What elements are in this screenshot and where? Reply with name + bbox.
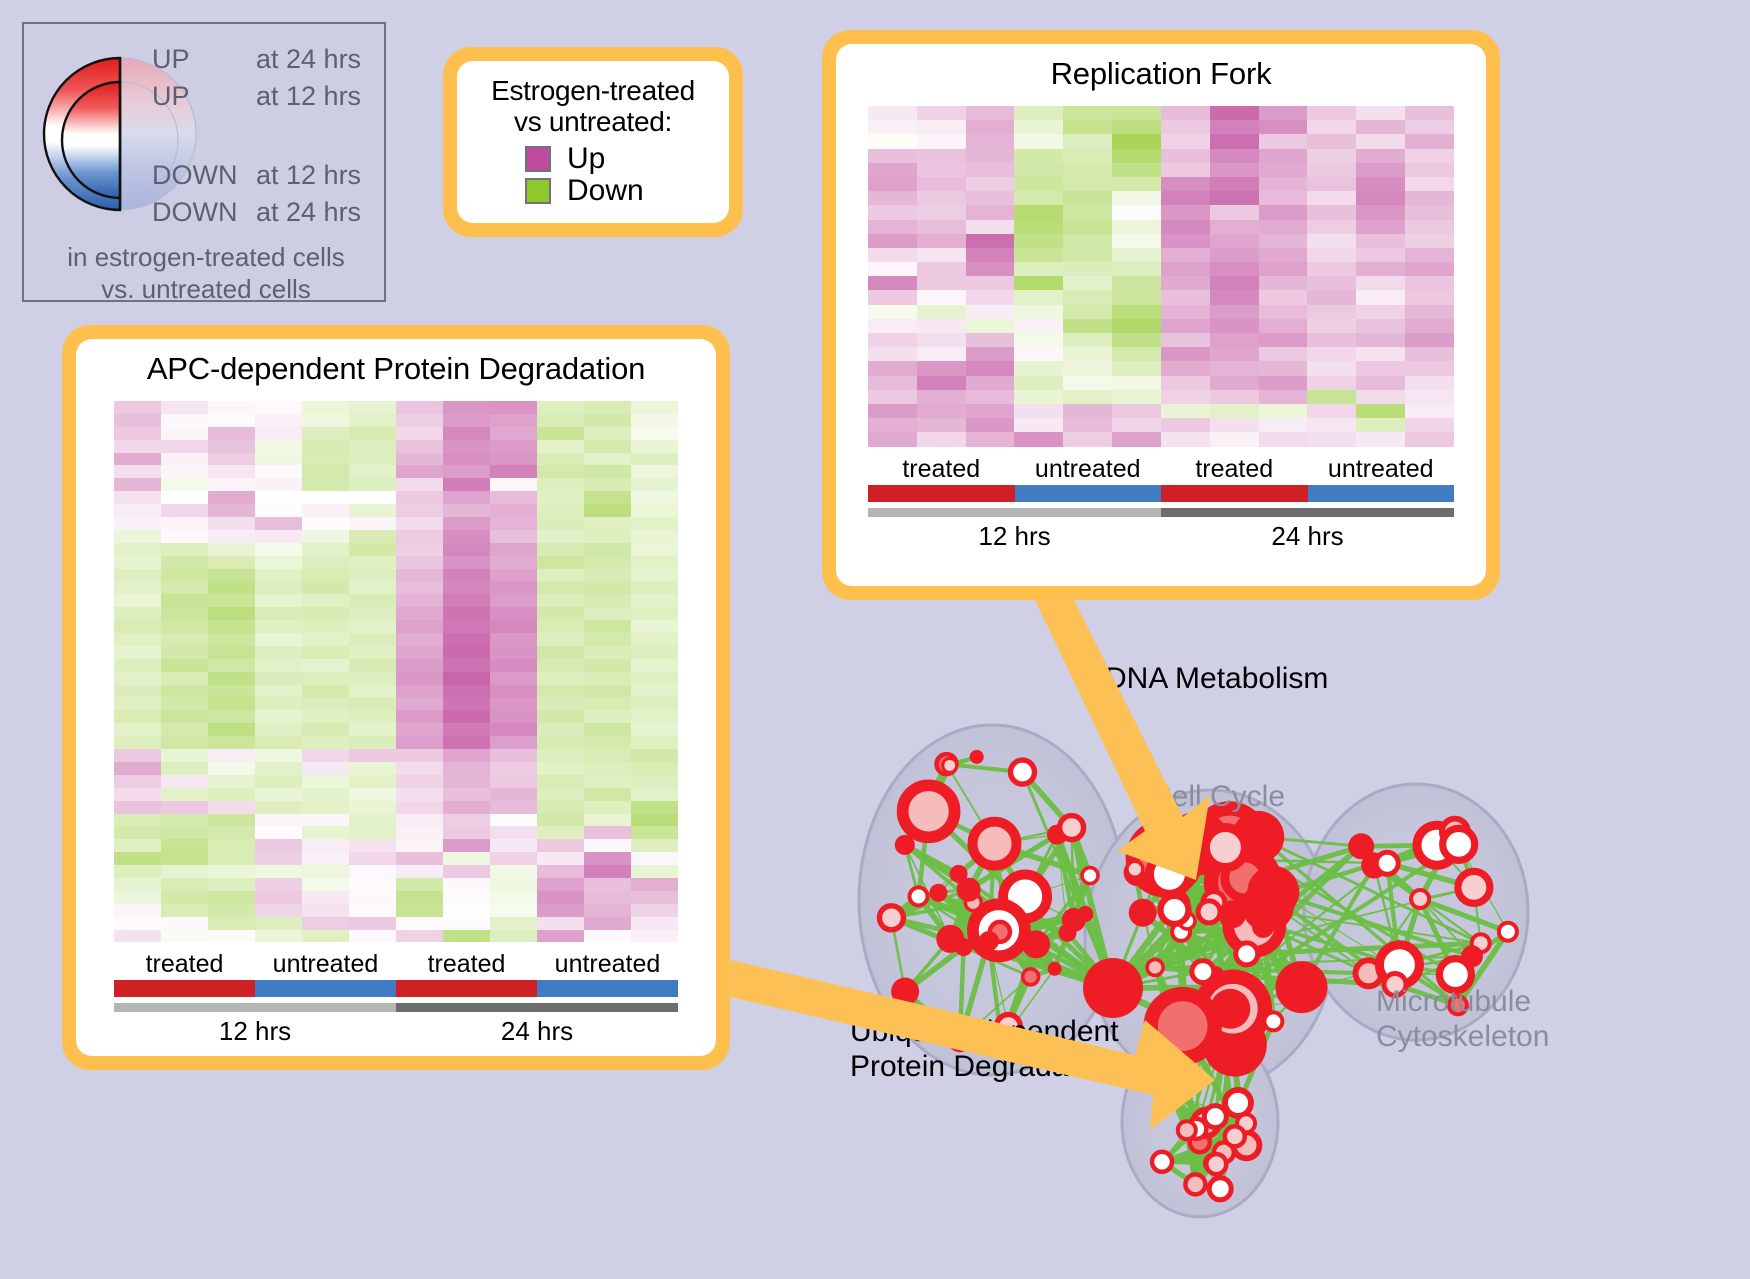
heatmap-cell — [631, 569, 678, 582]
network-node[interactable] — [1225, 1126, 1245, 1146]
heatmap-cell — [302, 581, 349, 594]
network-node[interactable] — [1127, 861, 1143, 877]
heatmap-cell — [490, 814, 537, 827]
heatmap-cell — [537, 491, 584, 504]
heatmap-cell — [631, 762, 678, 775]
network-node[interactable] — [1205, 828, 1245, 868]
heatmap-cell — [114, 878, 161, 891]
heatmap-cell — [584, 891, 631, 904]
heatmap-cell — [1405, 347, 1454, 361]
network-node[interactable] — [957, 878, 981, 902]
heatmap-cell — [208, 710, 255, 723]
heatmap-cell — [349, 930, 396, 943]
heatmap-cell — [1112, 432, 1161, 446]
heatmap-cell — [396, 865, 443, 878]
network-node[interactable] — [1048, 962, 1062, 976]
heatmap-cell — [631, 865, 678, 878]
heatmap-cell — [584, 453, 631, 466]
heatmap-cell — [208, 775, 255, 788]
heatmap-cell — [255, 414, 302, 427]
heatmap-cell — [443, 633, 490, 646]
heatmap-cell — [396, 401, 443, 414]
heatmap-cell — [349, 633, 396, 646]
heatmap-cell — [161, 891, 208, 904]
heatmap-cell — [966, 234, 1015, 248]
heatmap-cell — [255, 556, 302, 569]
legend-title-line2: vs untreated: — [457, 106, 729, 137]
heatmap-cell — [349, 736, 396, 749]
heatmap-cell — [396, 659, 443, 672]
heatmap-cell — [255, 478, 302, 491]
heatmap-cell — [161, 491, 208, 504]
heatmap-cell — [443, 814, 490, 827]
heatmap-cell — [1161, 205, 1210, 219]
heatmap-cell — [161, 478, 208, 491]
heatmap-cell — [302, 517, 349, 530]
heatmap-cell — [114, 710, 161, 723]
heatmap-cell — [1063, 149, 1112, 163]
legend-title: Estrogen-treated vs untreated: — [457, 75, 729, 138]
heatmap-cell — [1259, 163, 1308, 177]
heatmap-cell — [1405, 177, 1454, 191]
network-node[interactable] — [1209, 1178, 1231, 1200]
axis-group-labels: treated untreated treated untreated — [868, 456, 1454, 483]
heatmap-cell — [1161, 376, 1210, 390]
heatmap-cell — [966, 248, 1015, 262]
heatmap-cell — [1014, 149, 1063, 163]
network-node[interactable] — [1198, 901, 1220, 923]
heatmap-cell — [443, 710, 490, 723]
network-node[interactable] — [1161, 896, 1189, 924]
heatmap-cell — [114, 762, 161, 775]
heatmap-cell — [1063, 432, 1112, 446]
heatmap-cell — [490, 465, 537, 478]
cluster-label-dna-metabolism: DNA Metabolism — [1105, 662, 1328, 697]
heatmap-cell — [208, 723, 255, 736]
heatmap-cell — [396, 620, 443, 633]
heatmap-cell — [537, 620, 584, 633]
heatmap-cell — [443, 414, 490, 427]
heatmap-cell — [1014, 319, 1063, 333]
heatmap-cell — [631, 620, 678, 633]
heatmap-cell — [114, 826, 161, 839]
network-node[interactable] — [973, 822, 1017, 866]
heatmap-cell — [161, 517, 208, 530]
heatmap-cell — [1405, 376, 1454, 390]
heatmap-cell — [868, 248, 917, 262]
heatmap-cell — [966, 191, 1015, 205]
heatmap-cell — [631, 839, 678, 852]
heatmap-cell — [1112, 333, 1161, 347]
heatmap-cell — [631, 646, 678, 659]
network-node[interactable] — [1443, 828, 1475, 860]
heatmap-cell — [584, 427, 631, 440]
heatmap-cell — [1356, 390, 1405, 404]
heatmap-cell — [396, 917, 443, 930]
heatmap-cell — [584, 710, 631, 723]
heatmap-cell — [396, 633, 443, 646]
heatmap-cell — [349, 465, 396, 478]
network-node[interactable] — [970, 750, 984, 764]
key-time: at 12 hrs — [256, 162, 361, 189]
heatmap-cell — [255, 801, 302, 814]
heatmap-cell — [208, 620, 255, 633]
heatmap-cell — [208, 672, 255, 685]
heatmap-cell — [631, 427, 678, 440]
heatmap-cell — [490, 723, 537, 736]
axis-group-labels: treated untreated treated untreated — [114, 951, 678, 978]
heatmap-cell — [114, 865, 161, 878]
heatmap-cell — [1112, 205, 1161, 219]
network-node[interactable] — [979, 931, 999, 951]
heatmap-cell — [208, 646, 255, 659]
heatmap-cell — [584, 543, 631, 556]
axis-time-label: 24 hrs — [1161, 521, 1454, 552]
heatmap-cell — [208, 569, 255, 582]
heatmap-cell — [966, 432, 1015, 446]
heatmap-cell — [443, 659, 490, 672]
heatmap-cell — [349, 414, 396, 427]
heatmap-cell — [302, 762, 349, 775]
key-row: DOWN at 24 hrs — [152, 199, 384, 226]
heatmap-cell — [631, 904, 678, 917]
heatmap-cell — [396, 826, 443, 839]
heatmap-cell — [396, 814, 443, 827]
heatmap-cell — [1405, 276, 1454, 290]
network-node[interactable] — [891, 978, 919, 1006]
heatmap-cell — [114, 788, 161, 801]
heatmap-cell — [1210, 290, 1259, 304]
network-node[interactable] — [1059, 924, 1077, 942]
heatmap-cell — [537, 517, 584, 530]
heatmap-cell — [1063, 404, 1112, 418]
heatmap-cell — [349, 543, 396, 556]
heatmap-cell — [255, 491, 302, 504]
heatmap-cell — [1063, 376, 1112, 390]
heatmap-cell — [917, 333, 966, 347]
heatmap-cell — [161, 427, 208, 440]
heatmap-cell — [1259, 106, 1308, 120]
heatmap-cell — [114, 414, 161, 427]
axis-group-label: treated — [114, 951, 255, 978]
network-node[interactable] — [879, 906, 903, 930]
heatmap-cell — [917, 163, 966, 177]
network-node[interactable] — [1082, 868, 1098, 884]
heatmap-cell — [966, 361, 1015, 375]
heatmap-cell — [114, 801, 161, 814]
heatmap-cell — [868, 163, 917, 177]
heatmap-cell — [1356, 220, 1405, 234]
legend-items: Up Down — [457, 144, 729, 206]
heatmap-cell — [631, 504, 678, 517]
network-node[interactable] — [1264, 1012, 1282, 1030]
heatmap-cell — [537, 801, 584, 814]
heatmap-cell — [537, 930, 584, 943]
heatmap-cell — [1161, 276, 1210, 290]
heatmap-cell — [1014, 248, 1063, 262]
heatmap-cell — [537, 543, 584, 556]
heatmap-cell — [537, 594, 584, 607]
heatmap-cell — [1112, 248, 1161, 262]
heatmap-cell — [1307, 205, 1356, 219]
axis-time-label: 12 hrs — [868, 521, 1161, 552]
heatmap-cell — [917, 262, 966, 276]
heatmap-cell — [631, 517, 678, 530]
heatmap-cell — [1259, 191, 1308, 205]
network-node[interactable] — [929, 884, 947, 902]
heatmap-cell — [584, 401, 631, 414]
network-node[interactable] — [1499, 923, 1517, 941]
heatmap-cell — [161, 930, 208, 943]
heatmap-cell — [966, 376, 1015, 390]
heatmap-cell — [490, 710, 537, 723]
network-node[interactable] — [1022, 930, 1050, 958]
replication-fork-axis: treated untreated treated untreated 12 h — [868, 456, 1454, 552]
heatmap-cell — [114, 517, 161, 530]
heatmap-cell — [1307, 163, 1356, 177]
heatmap-cell — [1356, 404, 1405, 418]
heatmap-cell — [208, 581, 255, 594]
heatmap-cell — [1405, 290, 1454, 304]
heatmap-cell — [396, 465, 443, 478]
heatmap-cell — [396, 440, 443, 453]
heatmap-cell — [1161, 149, 1210, 163]
heatmap-cell — [1307, 290, 1356, 304]
heatmap-cell — [1356, 262, 1405, 276]
network-node[interactable] — [1225, 1090, 1251, 1116]
heatmap-cell — [161, 839, 208, 852]
network-node[interactable] — [1276, 961, 1328, 1013]
network-node[interactable] — [1376, 852, 1398, 874]
heatmap-cell — [302, 891, 349, 904]
heatmap-cell — [302, 440, 349, 453]
heatmap-cell — [302, 839, 349, 852]
heatmap-cell — [208, 826, 255, 839]
heatmap-cell — [114, 814, 161, 827]
heatmap-cell — [966, 404, 1015, 418]
heatmap-cell — [584, 504, 631, 517]
heatmap-cell — [302, 465, 349, 478]
axis-bar-untreated — [1308, 485, 1455, 502]
heatmap-cell — [537, 659, 584, 672]
heatmap-cell — [584, 440, 631, 453]
heatmap-cell — [584, 917, 631, 930]
heatmap-cell — [537, 504, 584, 517]
heatmap-cell — [396, 685, 443, 698]
key-time: at 24 hrs — [256, 199, 361, 226]
heatmap-cell — [396, 569, 443, 582]
heatmap-cell — [396, 504, 443, 517]
heatmap-cell — [1210, 220, 1259, 234]
heatmap-cell — [1014, 418, 1063, 432]
network-node[interactable] — [1152, 1152, 1172, 1172]
heatmap-cell — [255, 659, 302, 672]
heatmap-cell — [1063, 262, 1112, 276]
heatmap-cell — [1307, 234, 1356, 248]
heatmap-cell — [1405, 333, 1454, 347]
heatmap-cell — [255, 581, 302, 594]
heatmap-cell — [443, 440, 490, 453]
heatmap-cell — [114, 852, 161, 865]
heatmap-cell — [114, 749, 161, 762]
network-node[interactable] — [1023, 969, 1039, 985]
heatmap-cell — [302, 710, 349, 723]
heatmap-cell — [1405, 106, 1454, 120]
network-node[interactable] — [1247, 866, 1299, 918]
heatmap-cell — [584, 530, 631, 543]
axis-group-label: untreated — [537, 951, 678, 978]
heatmap-cell — [584, 736, 631, 749]
heatmap-cell — [1063, 276, 1112, 290]
axis-bar-24hrs — [396, 1003, 678, 1012]
heatmap-cell — [396, 904, 443, 917]
network-node[interactable] — [955, 938, 973, 956]
axis-group-label: treated — [1161, 456, 1308, 483]
network-node[interactable] — [1083, 958, 1143, 1018]
pathway-network-diagram: DNA Metabolism Cell Cycle Microtubule Cy… — [780, 610, 1740, 1275]
heatmap-cell — [302, 491, 349, 504]
heatmap-cell — [443, 465, 490, 478]
network-node[interactable] — [1060, 816, 1084, 840]
heatmap-cell — [396, 697, 443, 710]
heatmap-cell — [114, 607, 161, 620]
heatmap-cell — [302, 672, 349, 685]
legend-label-down: Down — [567, 176, 644, 206]
heatmap-cell — [1014, 361, 1063, 375]
heatmap-cell — [1259, 120, 1308, 134]
heatmap-cell — [349, 427, 396, 440]
heatmap-cell — [868, 418, 917, 432]
heatmap-cell — [868, 134, 917, 148]
network-node[interactable] — [943, 758, 957, 772]
key-label-list: UP at 24 hrs UP at 12 hrs DOWN at 12 hrs… — [152, 46, 384, 226]
network-node[interactable] — [1458, 871, 1490, 903]
heatmap-cell — [1356, 418, 1405, 432]
heatmap-cell — [537, 775, 584, 788]
heatmap-cell — [349, 478, 396, 491]
heatmap-cell — [1112, 418, 1161, 432]
network-node[interactable] — [1236, 943, 1258, 965]
key-time: at 12 hrs — [256, 83, 361, 110]
heatmap-cell — [1112, 134, 1161, 148]
heatmap-cell — [584, 801, 631, 814]
network-node[interactable] — [903, 785, 955, 837]
heatmap-cell — [349, 775, 396, 788]
heatmap-cell — [490, 594, 537, 607]
heatmap-cell — [349, 697, 396, 710]
heatmap-cell — [396, 453, 443, 466]
network-node[interactable] — [1149, 854, 1189, 894]
heatmap-cell — [396, 414, 443, 427]
heatmap-cell — [917, 220, 966, 234]
heatmap-cell — [631, 530, 678, 543]
heatmap-cell — [1356, 290, 1405, 304]
heatmap-cell — [1210, 333, 1259, 347]
heatmap-cell — [1112, 305, 1161, 319]
heatmap-cell — [114, 930, 161, 943]
heatmap-cell — [966, 120, 1015, 134]
heatmap-cell — [868, 290, 917, 304]
key-term: UP — [152, 83, 256, 110]
heatmap-cell — [1405, 120, 1454, 134]
network-node[interactable] — [1129, 899, 1157, 927]
heatmap-cell — [917, 205, 966, 219]
heatmap-cell — [1259, 333, 1308, 347]
network-node[interactable] — [1151, 994, 1215, 1058]
heatmap-cell — [966, 106, 1015, 120]
heatmap-cell — [255, 710, 302, 723]
axis-bar-untreated — [1015, 485, 1162, 502]
heatmap-cell — [1210, 319, 1259, 333]
network-node[interactable] — [1192, 961, 1214, 983]
heatmap-cell — [302, 930, 349, 943]
heatmap-cell — [490, 581, 537, 594]
heatmap-cell — [161, 569, 208, 582]
network-node[interactable] — [1185, 1174, 1205, 1194]
heatmap-cell — [302, 826, 349, 839]
heatmap-cell — [114, 891, 161, 904]
heatmap-cell — [490, 543, 537, 556]
heatmap-cell — [443, 685, 490, 698]
heatmap-cell — [396, 710, 443, 723]
heatmap-cell — [868, 191, 917, 205]
heatmap-cell — [1259, 319, 1308, 333]
network-node[interactable] — [1011, 760, 1035, 784]
network-node[interactable] — [1247, 838, 1275, 866]
heatmap-cell — [490, 788, 537, 801]
heatmap-cell — [302, 801, 349, 814]
heatmap-cell — [208, 814, 255, 827]
heatmap-cell — [917, 276, 966, 290]
heatmap-cell — [161, 685, 208, 698]
axis-group-label: untreated — [1015, 456, 1162, 483]
network-node[interactable] — [910, 887, 928, 905]
heatmap-cell — [208, 427, 255, 440]
network-node[interactable] — [1077, 906, 1093, 922]
heatmap-cell — [631, 453, 678, 466]
heatmap-cell — [443, 697, 490, 710]
heatmap-cell — [114, 904, 161, 917]
heatmap-cell — [537, 891, 584, 904]
heatmap-cell — [161, 659, 208, 672]
apc-degradation-heatmap — [114, 401, 678, 942]
heatmap-cell — [1063, 234, 1112, 248]
heatmap-cell — [1259, 134, 1308, 148]
network-node[interactable] — [1158, 1079, 1184, 1105]
heatmap-cell — [1259, 347, 1308, 361]
heatmap-cell — [1063, 120, 1112, 134]
heatmap-cell — [868, 276, 917, 290]
heatmap-cell — [1210, 305, 1259, 319]
network-node[interactable] — [1411, 890, 1429, 908]
network-node[interactable] — [1206, 1154, 1226, 1174]
heatmap-cell — [1307, 220, 1356, 234]
heatmap-cell — [302, 659, 349, 672]
network-node[interactable] — [1178, 1121, 1196, 1139]
heatmap-cell — [1210, 276, 1259, 290]
replication-fork-heatmap — [868, 106, 1454, 447]
network-node[interactable] — [1147, 959, 1163, 975]
heatmap-cell — [631, 814, 678, 827]
heatmap-cell — [161, 581, 208, 594]
axis-time-labels: 12 hrs 24 hrs — [868, 521, 1454, 552]
heatmap-cell — [114, 491, 161, 504]
heatmap-cell — [966, 134, 1015, 148]
heatmap-cell — [255, 904, 302, 917]
heatmap-cell — [443, 891, 490, 904]
cluster-label-cell-cycle: Cell Cycle — [1150, 780, 1285, 815]
heatmap-cell — [1161, 305, 1210, 319]
